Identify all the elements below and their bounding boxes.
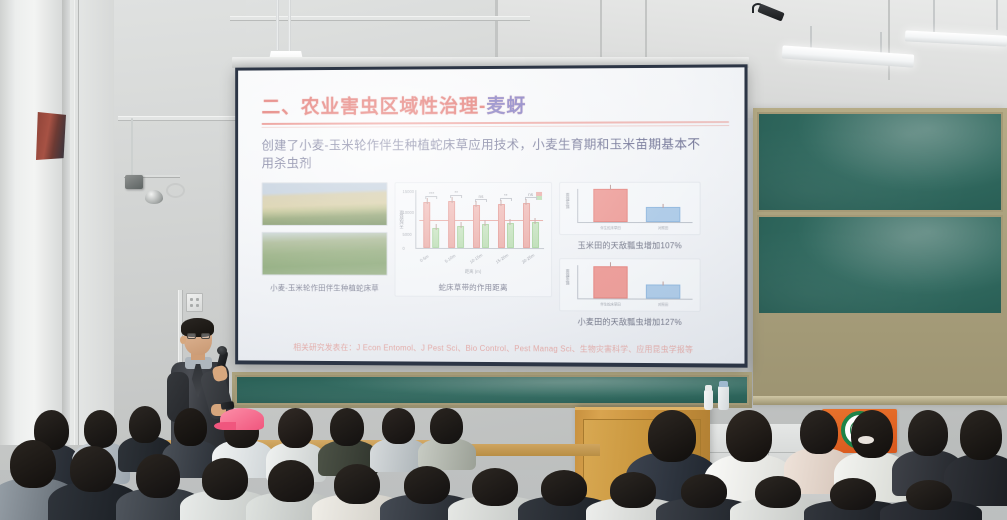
- y-tick-label: 5000: [402, 232, 411, 237]
- mini-plot-area: 瓢虫数量 伴生蛇床草田 对照田: [564, 187, 695, 232]
- significance-marker: ns: [479, 194, 484, 199]
- mini-bars: 伴生蛇床草田 对照田: [584, 190, 689, 222]
- student-head: [382, 408, 415, 444]
- student-head: [430, 408, 463, 444]
- bar-treatment: [523, 203, 530, 248]
- mini-chart-caption-wheat: 小麦田的天敌瓢虫增加127%: [559, 317, 701, 329]
- x-axis-label: 距离 (m): [400, 269, 546, 275]
- y-axis-label: 瓢虫数量: [564, 269, 569, 284]
- student-head: [960, 410, 1002, 460]
- blackboard-left: [232, 372, 752, 408]
- student-head: [755, 476, 801, 508]
- slide-title: 二、农业害虫区域性治理-麦蚜: [262, 90, 727, 119]
- cap-brim-icon: [214, 422, 236, 430]
- list-item: [324, 408, 370, 472]
- chart-caption: 蛇床草带的作用距离: [400, 282, 546, 293]
- bar-groups: *** **: [419, 192, 543, 248]
- bar-group: **: [448, 201, 464, 248]
- bottle-cap: [719, 381, 728, 387]
- chalk-ledge: [753, 396, 1007, 405]
- chalkboard-panel-left: [235, 375, 749, 405]
- list-item: [376, 408, 420, 468]
- student-head: [610, 472, 656, 508]
- student-head: [906, 480, 952, 510]
- water-bottle: [718, 386, 729, 410]
- slide-title-main: 二、农业害虫区域性治理: [262, 96, 479, 118]
- field-photo-green: [262, 232, 388, 276]
- bar-control: 对照田: [646, 285, 680, 299]
- student-head: [908, 410, 948, 456]
- security-camera-icon: [125, 175, 143, 189]
- bar-treatment: [448, 201, 455, 248]
- x-tick-label: 伴生蛇床草田: [600, 302, 621, 307]
- y-tick-label: 0: [402, 246, 404, 251]
- student-head: [648, 410, 696, 462]
- hair-tie-icon: [858, 436, 874, 444]
- bar-treatment: [498, 204, 505, 248]
- projection-screen: 二、农业害虫区域性治理-麦蚜 创建了小麦-玉米轮作伴生种植蛇床草应用技术，小麦生…: [235, 64, 747, 367]
- title-divider-thin: [262, 125, 730, 128]
- slide-panels: 小麦-玉米轮作田伴生种植蛇床草 天敌数量 15000 10000 5000 0: [262, 182, 727, 336]
- slide-footnote: 相关研究发表在：J Econ Entomol、J Pest Sci、Bio Co…: [262, 342, 727, 356]
- field-photo-wheat: [262, 182, 388, 226]
- bar-group: ns: [473, 205, 489, 248]
- slide-body-text: 创建了小麦-玉米轮作伴生种植蛇床草应用技术，小麦生育期和玉米苗期基本不用杀虫剂: [262, 135, 713, 172]
- y-axis-label: 瓢虫数量: [564, 193, 569, 208]
- audience: [0, 410, 1007, 520]
- light-suspension-rod: [933, 0, 935, 36]
- bottle-cap: [705, 385, 712, 391]
- x-tick-label: 0-5m: [419, 254, 430, 263]
- y-axis: [577, 265, 578, 299]
- lamp-rod: [276, 0, 279, 50]
- y-axis: [415, 190, 416, 249]
- x-tick-label: 10-15m: [469, 253, 484, 265]
- mini-chart-corn: 瓢虫数量 伴生蛇床草田 对照田: [559, 182, 701, 235]
- bar-group: ns: [523, 203, 539, 248]
- student-head: [268, 460, 314, 502]
- x-axis: [577, 222, 692, 223]
- student-head: [334, 464, 380, 504]
- student-head: [851, 410, 893, 458]
- presenter-ear: [180, 336, 186, 344]
- camera-cable: [131, 118, 133, 178]
- dome-camera-icon: [145, 190, 163, 204]
- significance-marker: **: [454, 190, 458, 195]
- significance-marker: **: [504, 193, 508, 198]
- wall-speaker: [36, 112, 66, 160]
- x-tick-label: 20-25m: [521, 253, 536, 265]
- photo-caption: 小麦-玉米轮作田伴生种植蛇床草: [262, 283, 388, 294]
- mini-chart-wheat: 瓢虫数量 伴生蛇床草田 对照田: [559, 258, 701, 312]
- bar-group: **: [498, 204, 514, 248]
- panel-ladybug-charts: 瓢虫数量 伴生蛇床草田 对照田 玉米田的天敌瓢虫增加107%: [559, 182, 701, 335]
- significance-marker: ns: [528, 192, 533, 197]
- y-tick-label: 10000: [402, 210, 414, 215]
- x-tick-label: 15-20m: [495, 253, 510, 265]
- list-item: [424, 408, 468, 466]
- microphone-head-icon: [217, 346, 227, 355]
- lamp-rod: [288, 0, 291, 58]
- bar-control: 对照田: [646, 207, 680, 222]
- chart-plot-area: 天敌数量 15000 10000 5000 0: [400, 188, 546, 262]
- wall-outlet: [186, 293, 203, 312]
- student-head: [278, 408, 313, 448]
- bar-treatment: [424, 202, 431, 248]
- student-head: [10, 440, 56, 488]
- student-head: [681, 474, 727, 508]
- bar-control: [433, 228, 440, 248]
- bar-treatment: 伴生蛇床草田: [593, 266, 627, 298]
- student-head: [70, 446, 116, 492]
- slide-title-accent: 麦蚜: [486, 96, 526, 117]
- wall-seam: [888, 0, 890, 80]
- mini-chart-caption-corn: 玉米田的天敌瓢虫增加107%: [559, 240, 701, 251]
- conduit-pipe: [230, 16, 530, 21]
- eyeglasses-icon: [187, 333, 211, 339]
- panel-distance-chart: 天敌数量 15000 10000 5000 0: [395, 182, 553, 297]
- student-head: [330, 408, 364, 446]
- mini-plot-area: 瓢虫数量 伴生蛇床草田 对照田: [564, 263, 695, 309]
- student-head: [174, 408, 207, 446]
- water-bottle: [704, 390, 713, 410]
- x-tick-label: 对照田: [658, 225, 668, 230]
- chalkboard-panel-upper: [757, 112, 1003, 212]
- y-tick-label: 15000: [402, 189, 414, 194]
- x-tick-label: 对照田: [658, 302, 668, 307]
- student-head: [726, 410, 772, 462]
- x-tick-label: 5-10m: [444, 253, 457, 264]
- lecture-hall-photo: 二、农业害虫区域性治理-麦蚜 创建了小麦-玉米轮作伴生种植蛇床草应用技术，小麦生…: [0, 0, 1007, 520]
- chalkboard-panel-lower: [757, 215, 1003, 315]
- list-item: [890, 480, 970, 520]
- bar-control: [507, 223, 514, 248]
- student-head: [830, 478, 876, 510]
- student-head: [136, 454, 180, 498]
- student-head: [472, 468, 518, 506]
- student-head: [129, 406, 161, 443]
- student-head: [84, 410, 117, 448]
- significance-marker: ***: [429, 191, 434, 196]
- bar-control: [532, 222, 539, 248]
- student-head: [800, 410, 838, 454]
- x-tick-label: 伴生蛇床草田: [600, 225, 621, 230]
- student-head: [404, 466, 450, 504]
- light-suspension-rod: [996, 0, 998, 30]
- bar-treatment: 伴生蛇床草田: [593, 189, 627, 222]
- bar-treatment: [473, 205, 480, 248]
- bar-control: [457, 226, 464, 248]
- left-pillar: [0, 0, 62, 445]
- mini-bars: 伴生蛇床草田 对照田: [584, 266, 689, 299]
- panel-field-photos: 小麦-玉米轮作田伴生种植蛇床草: [262, 182, 388, 294]
- camera-mount-ring: [166, 183, 185, 198]
- student-head: [202, 458, 248, 500]
- conduit-pipe: [118, 116, 246, 121]
- title-divider: [262, 121, 730, 125]
- bar-group: ***: [424, 202, 440, 248]
- y-axis: [577, 189, 578, 223]
- student-head: [541, 470, 587, 506]
- screen-surface: 二、农业害虫区域性治理-麦蚜 创建了小麦-玉米轮作伴生种植蛇床草应用技术，小麦生…: [238, 67, 744, 363]
- conduit-pipe-vertical: [74, 0, 79, 445]
- slide-content: 二、农业害虫区域性治理-麦蚜 创建了小麦-玉米轮作伴生种植蛇床草应用技术，小麦生…: [238, 67, 744, 363]
- bar-control: [482, 224, 489, 248]
- blackboard-right: [753, 108, 1007, 401]
- x-axis: [415, 248, 544, 249]
